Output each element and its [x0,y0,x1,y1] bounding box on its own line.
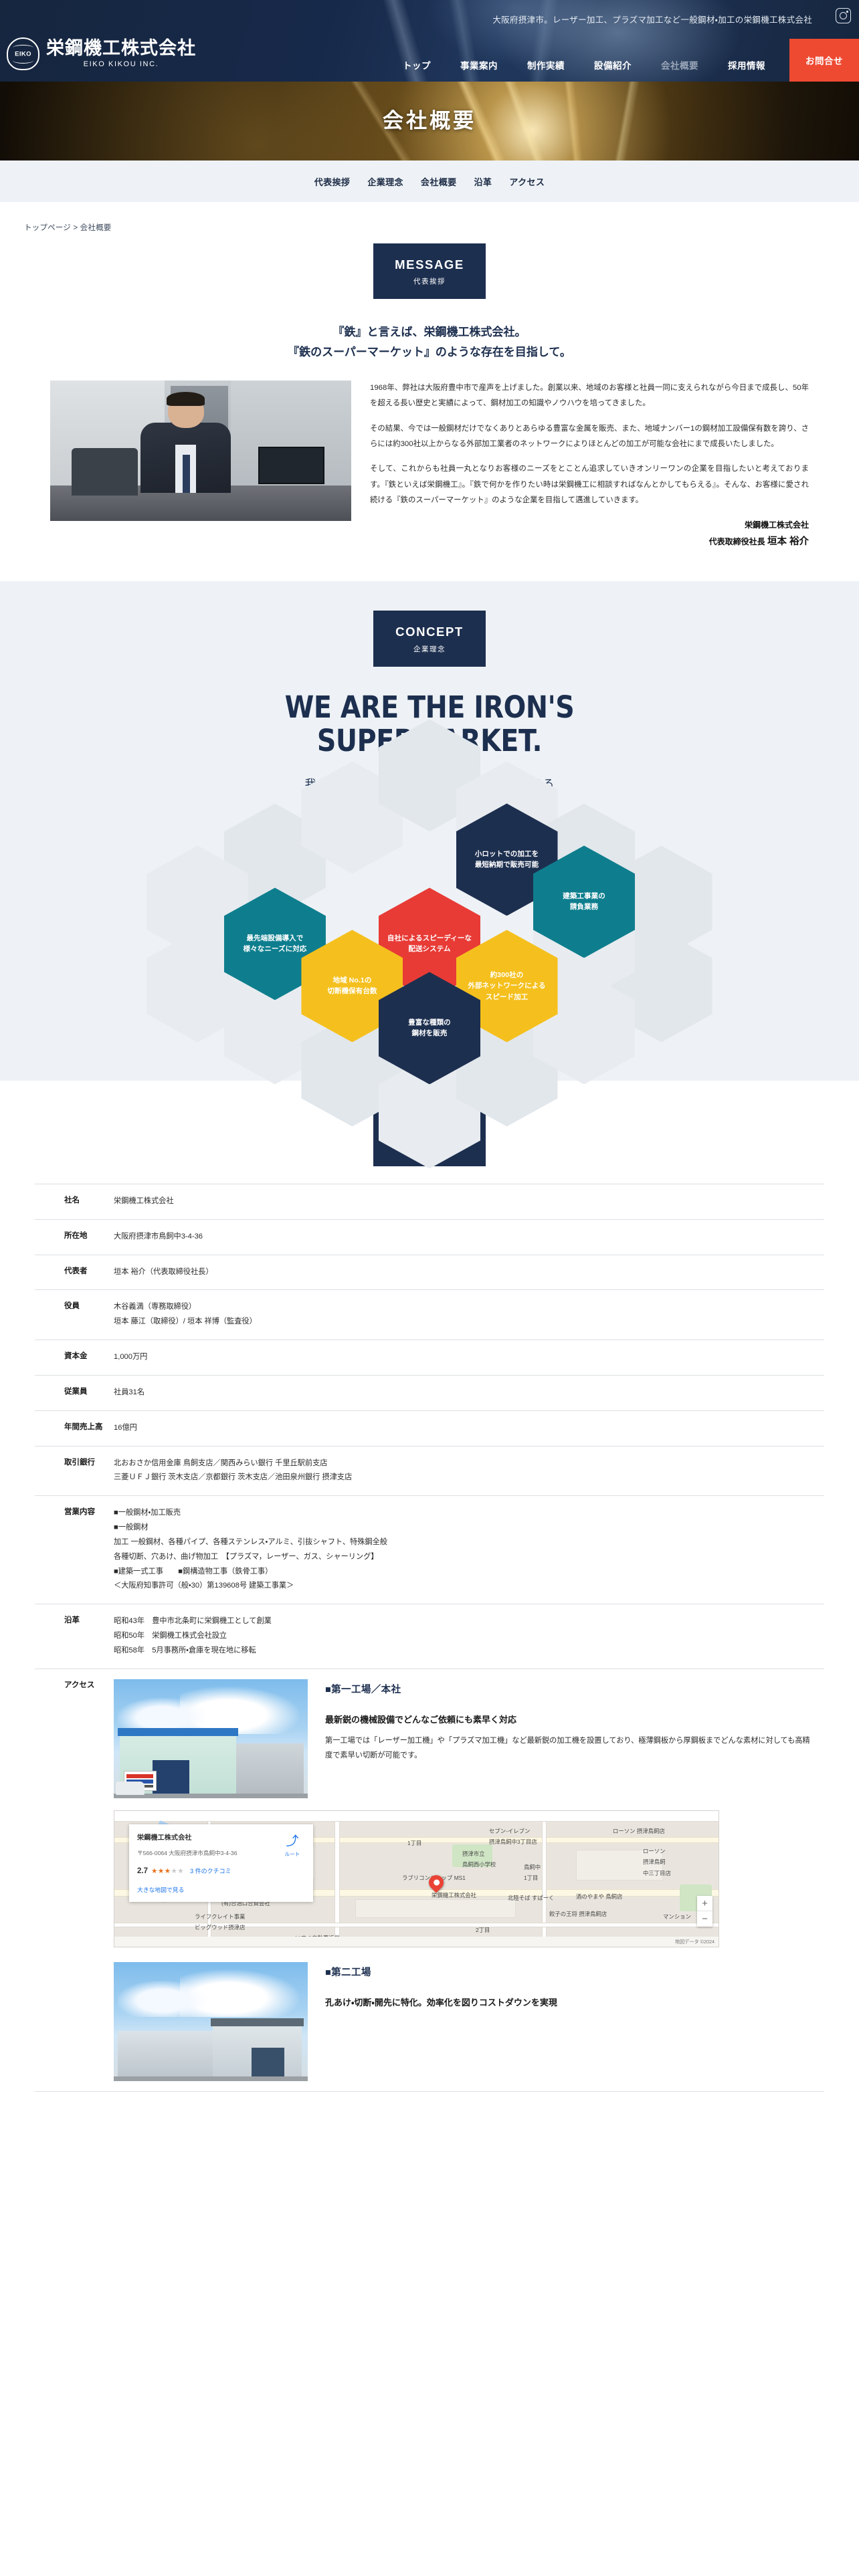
directions-arrow-icon: ⤴ [281,1835,304,1848]
message-badge-jp: 代表挨拶 [373,276,486,286]
profile-value-line: 加工 一般鋼材、各種パイプ、各種ステンレス・アルミ、引抜シャフト、特殊鋼全般 [114,1535,811,1550]
map-label: ローソン摂津鳥飼中三丁目店 [643,1846,671,1879]
hexagon-construction-label: 建築工事業の請負業務 [557,891,611,913]
google-map[interactable]: セブン-イレブン摂津鳥飼中3丁目店ローソン 摂津鳥飼店1丁目摂津市立鳥飼西小学校… [114,1810,719,1947]
profile-value-line: 三菱ＵＦＪ銀行 茨木支店／京都銀行 茨木支店／池田泉州銀行 摂津支店 [114,1471,811,1485]
profile-value-line: 各種切断、穴あけ、曲げ物加工 【プラズマ，レーザー、ガス、シャーリング】 [114,1550,811,1565]
factory-2-subheading: 孔あけ・切断・開先に特化。効率化を図りコストダウンを実現 [325,1994,811,2011]
profile-row-label: 取引銀行 [35,1446,114,1496]
table-row: 社名栄鋼機工株式会社 [35,1184,824,1219]
map-company-address: 〒566-0064 大阪府摂津市鳥飼中3-4-36 [137,1848,305,1859]
map-search-bar[interactable] [114,1811,719,1822]
map-rating-row: 2.7 ★★★★★ 3 件のクチコミ [137,1864,305,1879]
concept-section: CONCEPT 企業理念 WE ARE THE IRON'S SUPERMARK… [0,581,859,1081]
president-photo [50,381,351,521]
site-tagline: 大阪府摂津市。レーザー加工、プラズマ加工など一般鋼材・加工の栄鋼機工株式会社 [492,13,812,25]
message-text: 1968年、弊社は大阪府豊中市で産声を上げました。創業以来、地域のお客様と社員一… [370,381,809,551]
message-paragraph-1: 1968年、弊社は大阪府豊中市で産声を上げました。創業以来、地域のお客様と社員一… [370,381,809,412]
map-zoom-in-button[interactable]: + [697,1896,712,1911]
profile-value-line: 昭和43年 豊中市北条町に栄鋼機工として創業 [114,1614,811,1629]
profile-value-line: 昭和50年 栄鋼機工株式会社設立 [114,1629,811,1644]
concept-badge-jp: 企業理念 [373,644,486,654]
table-row: 従業員社員31名 [35,1375,824,1410]
nav-item-company[interactable]: 会社概要 [646,53,713,80]
table-row: 沿革昭和43年 豊中市北条町に栄鋼機工として創業昭和50年 栄鋼機工株式会社設立… [35,1604,824,1669]
map-label: 鳥飼中1丁目 [524,1862,541,1884]
directions-label: ルート [281,1850,304,1860]
factory-2-photo [114,1962,308,2081]
profile-row-value: 1,000万円 [114,1340,824,1376]
nav-item-business[interactable]: 事業案内 [446,53,512,80]
profile-value-line: 垣本 藤江（取締役）/ 垣本 祥博（監査役） [114,1315,811,1329]
profile-value-line: 16億円 [114,1421,811,1436]
signature-company: 栄鋼機工株式会社 [370,518,809,532]
message-headline: 『鉄』と言えば、栄鋼機工株式会社。 『鉄のスーパーマーケット』のような存在を目指… [0,323,859,363]
profile-row-label: 資本金 [35,1340,114,1376]
table-row-access: アクセス ■第一工場／本社 最新鋭の機械設備でどんなご依頼にも素早く対応 第一工… [35,1669,824,2091]
nav-item-works[interactable]: 制作実績 [512,53,579,80]
profile-row-value: 社員31名 [114,1375,824,1410]
subnav-item-access[interactable]: アクセス [500,175,553,188]
profile-row-label: 社名 [35,1184,114,1219]
profile-row-value: 木谷義満（専務取締役）垣本 藤江（取締役）/ 垣本 祥博（監査役） [114,1290,824,1340]
hexagon-variety-label: 豊富な種類の鋼材を販売 [403,1017,456,1039]
profile-section: PROFILE 会社概要 社名栄鋼機工株式会社所在地大阪府摂津市鳥飼中3-4-3… [0,1081,859,2091]
message-signature: 栄鋼機工株式会社 代表取締役社長 垣本 裕介 [370,518,809,550]
profile-row-label: 沿革 [35,1604,114,1669]
map-review-count[interactable]: 3 件のクチコミ [190,1866,231,1878]
profile-value-line: 栄鋼機工株式会社 [114,1194,811,1209]
profile-row-label: 年間売上高 [35,1410,114,1446]
map-company-name: 栄鋼機工株式会社 [137,1832,305,1845]
profile-value-line: 北おおさか信用金庫 鳥飼支店／関西みらい銀行 千里丘駅前支店 [114,1457,811,1471]
profile-row-value: 16億円 [114,1410,824,1446]
factory-2-heading: ■第二工場 [325,1963,811,1982]
factory-1-text: ■第一工場／本社 最新鋭の機械設備でどんなご依頼にも素早く対応 第一工場では「レ… [325,1679,811,1763]
table-row: 年間売上高16億円 [35,1410,824,1446]
message-headline-line2: 『鉄のスーパーマーケット』のような存在を目指して。 [0,343,859,363]
profile-row-value: 栄鋼機工株式会社 [114,1184,824,1219]
profile-value-line: ■一般鋼材 [114,1521,811,1535]
profile-row-value: 大阪府摂津市鳥飼中3-4-36 [114,1219,824,1255]
subnav-item-concept[interactable]: 企業理念 [359,175,412,188]
profile-row-value: 昭和43年 豊中市北条町に栄鋼機工として創業昭和50年 栄鋼機工株式会社設立昭和… [114,1604,824,1669]
table-row: 役員木谷義満（専務取締役）垣本 藤江（取締役）/ 垣本 祥博（監査役） [35,1290,824,1340]
site-logo[interactable]: EIKO 栄鋼機工株式会社 EIKO KIKOU INC. [7,37,196,70]
section-navigation: 代表挨拶 企業理念 会社概要 沿革 アクセス [0,160,859,202]
map-label: 餃子の王将 摂津鳥飼店 [549,1909,607,1919]
profile-value-line: ■建築一式工事 ■鋼構造物工事（鉄骨工事） [114,1565,811,1580]
factory-1-heading: ■第一工場／本社 [325,1681,811,1699]
profile-value-line: ■一般鋼材・加工販売 [114,1506,811,1521]
company-profile-page: 大阪府摂津市。レーザー加工、プラズマ加工など一般鋼材・加工の栄鋼機工株式会社 E… [0,0,859,2092]
page-hero: 会社概要 [0,82,859,160]
site-header: 大阪府摂津市。レーザー加工、プラズマ加工など一般鋼材・加工の栄鋼機工株式会社 E… [0,0,859,82]
company-profile-table: 社名栄鋼機工株式会社所在地大阪府摂津市鳥飼中3-4-36代表者垣本 裕介（代表取… [35,1184,824,2092]
profile-value-line: 昭和58年 5月事務所・倉庫を現在地に移転 [114,1644,811,1658]
profile-value-line: 社員31名 [114,1386,811,1400]
map-label: 1丁目 [407,1838,421,1848]
factory-2-text: ■第二工場 孔あけ・切断・開先に特化。効率化を図りコストダウンを実現 [325,1962,811,2018]
profile-value-line: 垣本 裕介（代表取締役社長） [114,1265,811,1280]
table-row: 代表者垣本 裕介（代表取締役社長） [35,1255,824,1290]
instagram-icon[interactable] [836,8,851,23]
contact-button[interactable]: お問合せ [789,39,859,82]
profile-row-value: 垣本 裕介（代表取締役社長） [114,1255,824,1290]
message-section-badge: MESSAGE 代表挨拶 [373,243,486,299]
profile-row-label: 役員 [35,1290,114,1340]
subnav-item-message[interactable]: 代表挨拶 [306,175,359,188]
signature-title: 代表取締役社長 [709,537,765,546]
message-headline-line1: 『鉄』と言えば、栄鋼機工株式会社。 [0,323,859,343]
factory-2-block: ■第二工場 孔あけ・切断・開先に特化。効率化を図りコストダウンを実現 [114,1962,811,2081]
nav-item-top[interactable]: トップ [388,53,446,80]
table-row: 営業内容■一般鋼材・加工販売■一般鋼材加工 一般鋼材、各種パイプ、各種ステンレス… [35,1496,824,1604]
breadcrumb[interactable]: トップページ > 会社概要 [0,202,859,243]
map-attribution: 地図データ ©2024 [114,1937,719,1947]
concept-section-badge: CONCEPT 企業理念 [373,611,486,666]
table-row: 資本金1,000万円 [35,1340,824,1376]
map-label: 栄鋼機工株式会社 [432,1890,476,1901]
message-badge-en: MESSAGE [373,258,486,272]
profile-row-label: 営業内容 [35,1496,114,1604]
map-info-card[interactable]: 栄鋼機工株式会社 〒566-0064 大阪府摂津市鳥飼中3-4-36 2.7 ★… [129,1824,313,1902]
table-row: 取引銀行北おおさか信用金庫 鳥飼支店／関西みらい銀行 千里丘駅前支店三菱ＵＦＪ銀… [35,1446,824,1496]
hexagon-cutters-label: 地域 No.1の切断機保有台数 [322,975,382,997]
profile-row-label: 従業員 [35,1375,114,1410]
map-larger-link[interactable]: 大きな地図で見る [137,1885,305,1896]
hexagon-equipment-label: 最先端設備導入で様々なニーズに対応 [238,933,312,955]
map-directions-button[interactable]: ⤴ ルート [281,1835,304,1860]
map-zoom-controls[interactable]: + − [697,1896,712,1927]
profile-row-label: 代表者 [35,1255,114,1290]
hexagon-network-label: 約300社の外部ネットワークによるスピード加工 [462,970,551,1002]
nav-item-recruit[interactable]: 採用情報 [713,53,780,80]
logo-mark-text: EIKO [8,50,38,58]
map-label: セブン-イレブン摂津鳥飼中3丁目店 [489,1826,537,1848]
subnav-item-history[interactable]: 沿革 [466,175,501,188]
map-label: ライフクレイト事業ビッグウッド摂津店 [195,1911,245,1933]
brand-name-en: EIKO KIKOU INC. [46,60,196,68]
profile-row-value: 北おおさか信用金庫 鳥飼支店／関西みらい銀行 千里丘駅前支店三菱ＵＦＪ銀行 茨木… [114,1446,824,1496]
signature-name: 垣本 裕介 [767,536,809,547]
factory-1-block: ■第一工場／本社 最新鋭の機械設備でどんなご依頼にも素早く対応 第一工場では「レ… [114,1679,811,1798]
message-paragraph-2: その結果、今では一般鋼材だけでなくありとあらゆる豊富な金属を販売、また、地域ナン… [370,421,809,453]
map-rating-value: 2.7 [137,1864,148,1879]
concept-badge-en: CONCEPT [373,625,486,639]
map-label: 2丁目 [476,1925,490,1935]
map-label: 酒のやまや 鳥飼店 [576,1891,622,1902]
brand-name-jp: 栄鋼機工株式会社 [46,39,196,58]
map-label: ローソン 摂津鳥飼店 [613,1826,665,1836]
map-label: 北陸そば すぱーく [508,1893,554,1903]
factory-1-photo [114,1679,308,1798]
profile-value-line: 木谷義満（専務取締役） [114,1300,811,1315]
main-navigation: トップ 事業案内 制作実績 設備紹介 会社概要 採用情報 お問合せ [388,48,859,82]
hexagon-small-lot-label: 小ロットでの加工を最短納期で販売可能 [470,849,544,871]
page-title: 会社概要 [0,82,859,160]
message-paragraph-3: そして、これからも社員一丸となりお客様のニーズをとことん追求していきオンリーワン… [370,461,809,508]
hexagon-delivery-label: 自社によるスピーディーな配送システム [382,933,477,955]
logo-mark-icon: EIKO [7,37,39,70]
concept-hexagon-diagram: 最先端設備導入で様々なニーズに対応小ロットでの加工を最短納期で販売可能自社による… [0,833,859,1054]
profile-row-label: アクセス [35,1669,114,2091]
profile-row-value: ■一般鋼材・加工販売■一般鋼材加工 一般鋼材、各種パイプ、各種ステンレス・アルミ… [114,1496,824,1604]
factory-1-body: 第一工場では「レーザー加工機」や「プラズマ加工機」など最新鋭の加工機を設置してお… [325,1734,811,1763]
profile-row-label: 所在地 [35,1219,114,1255]
map-rating-stars: ★★★★★ [151,1864,184,1878]
table-row: 所在地大阪府摂津市鳥飼中3-4-36 [35,1219,824,1255]
profile-value-line: 大阪府摂津市鳥飼中3-4-36 [114,1230,811,1245]
map-label: マンション [663,1911,691,1922]
nav-item-equipment[interactable]: 設備紹介 [579,53,646,80]
profile-value-line: 1,000万円 [114,1350,811,1365]
map-zoom-out-button[interactable]: − [697,1911,712,1927]
access-content: ■第一工場／本社 最新鋭の機械設備でどんなご依頼にも素早く対応 第一工場では「レ… [114,1669,824,2091]
subnav-item-profile[interactable]: 会社概要 [412,175,466,188]
profile-value-line: ＜大阪府知事許可（般・30）第139608号 建築工事業＞ [114,1579,811,1594]
map-label: 摂津市立鳥飼西小学校 [462,1848,496,1870]
factory-1-subheading: 最新鋭の機械設備でどんなご依頼にも素早く対応 [325,1711,811,1728]
message-content: 1968年、弊社は大阪府豊中市で産声を上げました。創業以来、地域のお客様と社員一… [0,381,859,551]
